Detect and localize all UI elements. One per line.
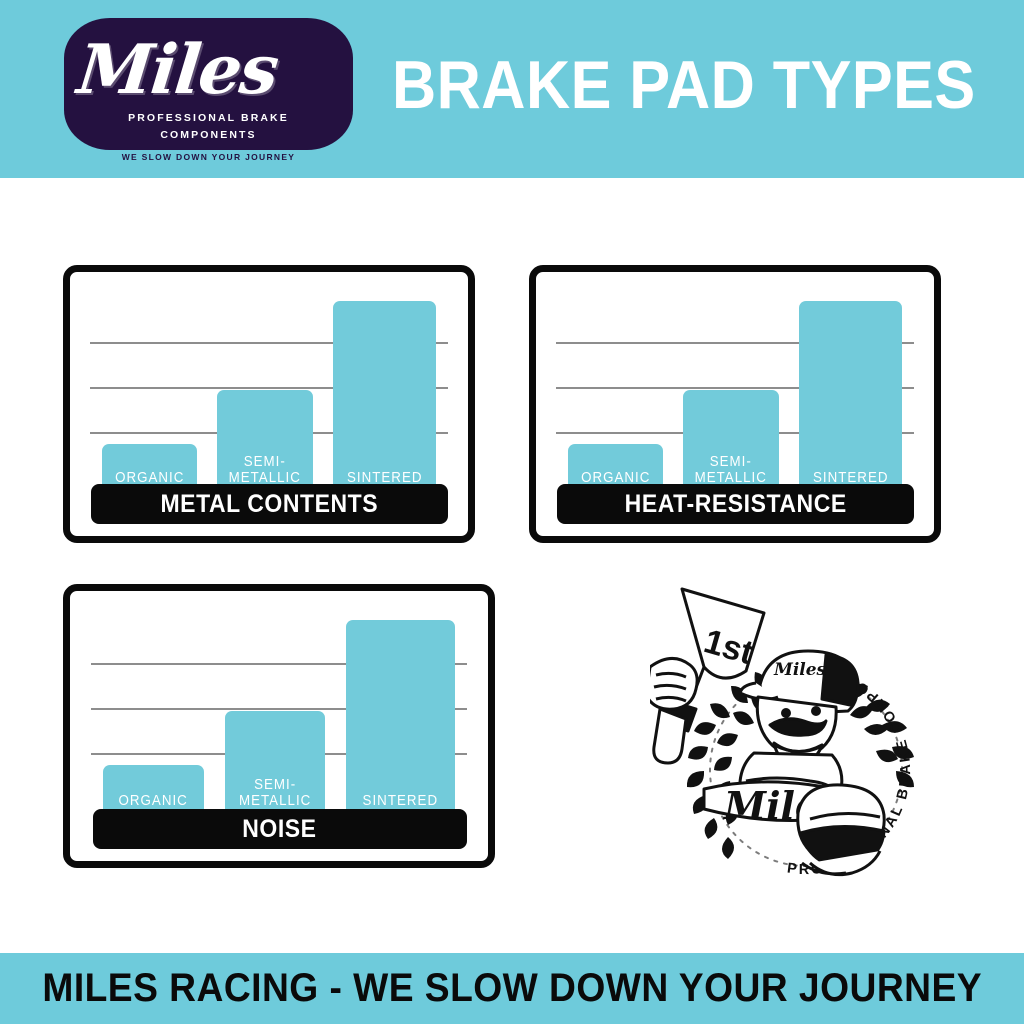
bar-sintered: SINTERED: [799, 301, 902, 489]
header-band: Miles PROFESSIONAL BRAKE COMPONENTS WE S…: [0, 0, 1024, 178]
bar-label-semi-metallic: SEMI-: [229, 777, 321, 793]
mascot-head: Miles: [740, 651, 858, 763]
logo-subtitle-line-2: COMPONENTS: [64, 129, 353, 141]
footer-band: MILES RACING - WE SLOW DOWN YOUR JOURNEY: [0, 953, 1024, 1024]
chart-card-noise: ORGANIC SEMI- METALLIC SINTERED NOISE: [63, 584, 495, 868]
chart-title-bar-metal-contents: METAL CONTENTS: [91, 484, 447, 524]
logo-subtitle-line-1: PROFESSIONAL BRAKE: [64, 112, 353, 124]
chart-card-heat-resistance: ORGANIC SEMI- METALLIC SINTERED HEAT-RES…: [529, 265, 941, 543]
bar-label-sintered: SINTERED: [350, 793, 450, 809]
chart-title-noise: NOISE: [242, 815, 316, 844]
chart-card-metal-contents: ORGANIC SEMI- METALLIC SINTERED METAL CO…: [63, 265, 475, 543]
bars-layer: ORGANIC SEMI- METALLIC SINTERED: [536, 284, 934, 489]
chart-title-bar-noise: NOISE: [93, 809, 467, 849]
bar-sintered: SINTERED: [333, 301, 436, 489]
mascot-svg: PROFESSIONAL BRAKE COMPONENTS 1st Mil: [650, 575, 970, 905]
plot-area-metal-contents: ORGANIC SEMI- METALLIC SINTERED METAL CO…: [70, 272, 468, 536]
bar-organic: ORGANIC: [102, 444, 198, 489]
bar-sintered: SINTERED: [346, 620, 455, 812]
mascot-illustration: PROFESSIONAL BRAKE COMPONENTS 1st Mil: [650, 575, 970, 905]
logo-plate: Miles PROFESSIONAL BRAKE COMPONENTS: [64, 18, 353, 150]
bars-layer: ORGANIC SEMI- METALLIC SINTERED: [70, 607, 488, 812]
bar-semi-metallic: SEMI- METALLIC: [217, 390, 313, 489]
bar-label-metallic: METALLIC: [229, 793, 321, 809]
bar-semi-metallic: SEMI- METALLIC: [683, 390, 779, 489]
bars-layer: ORGANIC SEMI- METALLIC SINTERED: [70, 284, 468, 489]
bar-label-semi-metallic: SEMI-: [221, 454, 309, 470]
bar-label-organic: ORGANIC: [107, 793, 199, 809]
page-title: BRAKE PAD TYPES: [392, 45, 932, 125]
mascot-helmet: [798, 785, 884, 875]
chart-title-heat-resistance: HEAT-RESISTANCE: [625, 490, 847, 519]
bar-organic: ORGANIC: [568, 444, 664, 489]
brand-logo: Miles PROFESSIONAL BRAKE COMPONENTS WE S…: [64, 18, 353, 162]
mascot-cap-text: Miles: [773, 660, 827, 680]
logo-tagline: WE SLOW DOWN YOUR JOURNEY: [64, 152, 353, 162]
plot-area-heat-resistance: ORGANIC SEMI- METALLIC SINTERED HEAT-RES…: [536, 272, 934, 536]
chart-title-bar-heat-resistance: HEAT-RESISTANCE: [557, 484, 913, 524]
bar-label-semi-metallic: SEMI-: [687, 454, 775, 470]
chart-title-metal-contents: METAL CONTENTS: [161, 490, 379, 519]
infographic-page: Miles PROFESSIONAL BRAKE COMPONENTS WE S…: [0, 0, 1024, 1024]
logo-script-wordmark: Miles: [73, 24, 345, 116]
bar-semi-metallic: SEMI- METALLIC: [225, 711, 325, 812]
plot-area-noise: ORGANIC SEMI- METALLIC SINTERED NOISE: [70, 591, 488, 861]
bar-organic: ORGANIC: [103, 765, 203, 812]
footer-tagline: MILES RACING - WE SLOW DOWN YOUR JOURNEY: [42, 966, 982, 1011]
